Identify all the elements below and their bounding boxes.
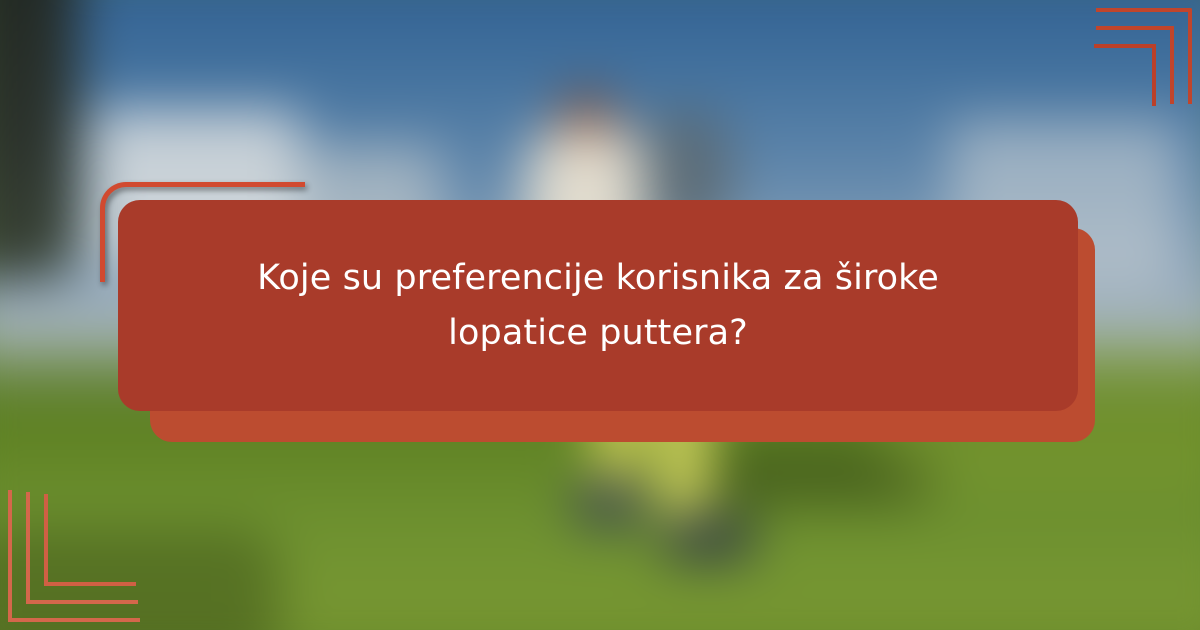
front-content-card: Koje su preferencije korisnika za široke… xyxy=(118,200,1078,411)
page-title: Koje su preferencije korisnika za široke… xyxy=(248,251,948,360)
background-golfer-shoe-left xyxy=(572,480,646,526)
background-golfer-shoe-right xyxy=(660,516,756,560)
background-grass-shade xyxy=(0,530,280,630)
background-tree-trunk xyxy=(0,0,78,280)
share-card-canvas: Koje su preferencije korisnika za široke… xyxy=(0,0,1200,630)
